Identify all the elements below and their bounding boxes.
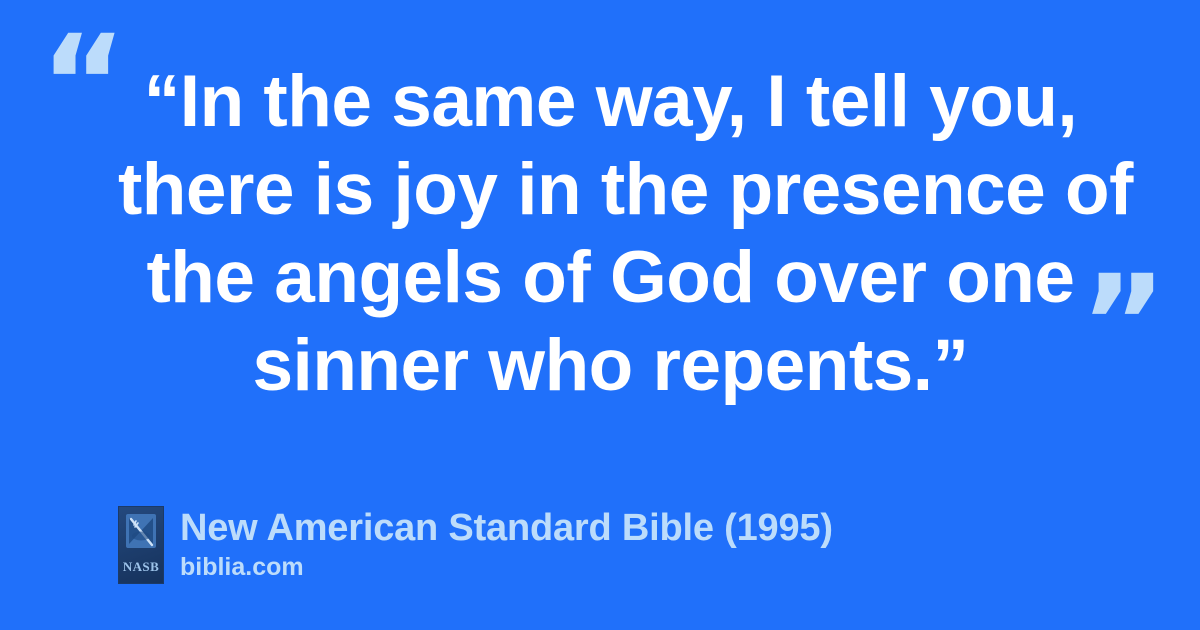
nasb-logo-label: NASB <box>123 559 159 575</box>
quote-line-1: “In the same way, I tell you, <box>118 58 1103 146</box>
nasb-logo: NASB <box>118 506 164 584</box>
bible-version-title: New American Standard Bible (1995) <box>180 507 833 549</box>
open-quote-mark-icon: “ <box>40 18 127 150</box>
close-quote-mark-icon: ” <box>1080 258 1167 390</box>
quote-card: “ “In the same way, I tell you, there is… <box>0 0 1200 630</box>
quote-line-3: the angels of God over one <box>118 234 1103 322</box>
quote-line-4: sinner who repents.” <box>118 322 1103 410</box>
attribution-text: New American Standard Bible (1995) bibli… <box>180 506 833 582</box>
attribution: NASB New American Standard Bible (1995) … <box>118 506 833 584</box>
quote-line-2: there is joy in the presence of <box>118 146 1103 234</box>
nasb-cross-mark-icon <box>124 512 158 558</box>
source-site-link[interactable]: biblia.com <box>180 552 833 582</box>
quote-text-block: “In the same way, I tell you, there is j… <box>118 58 1103 410</box>
